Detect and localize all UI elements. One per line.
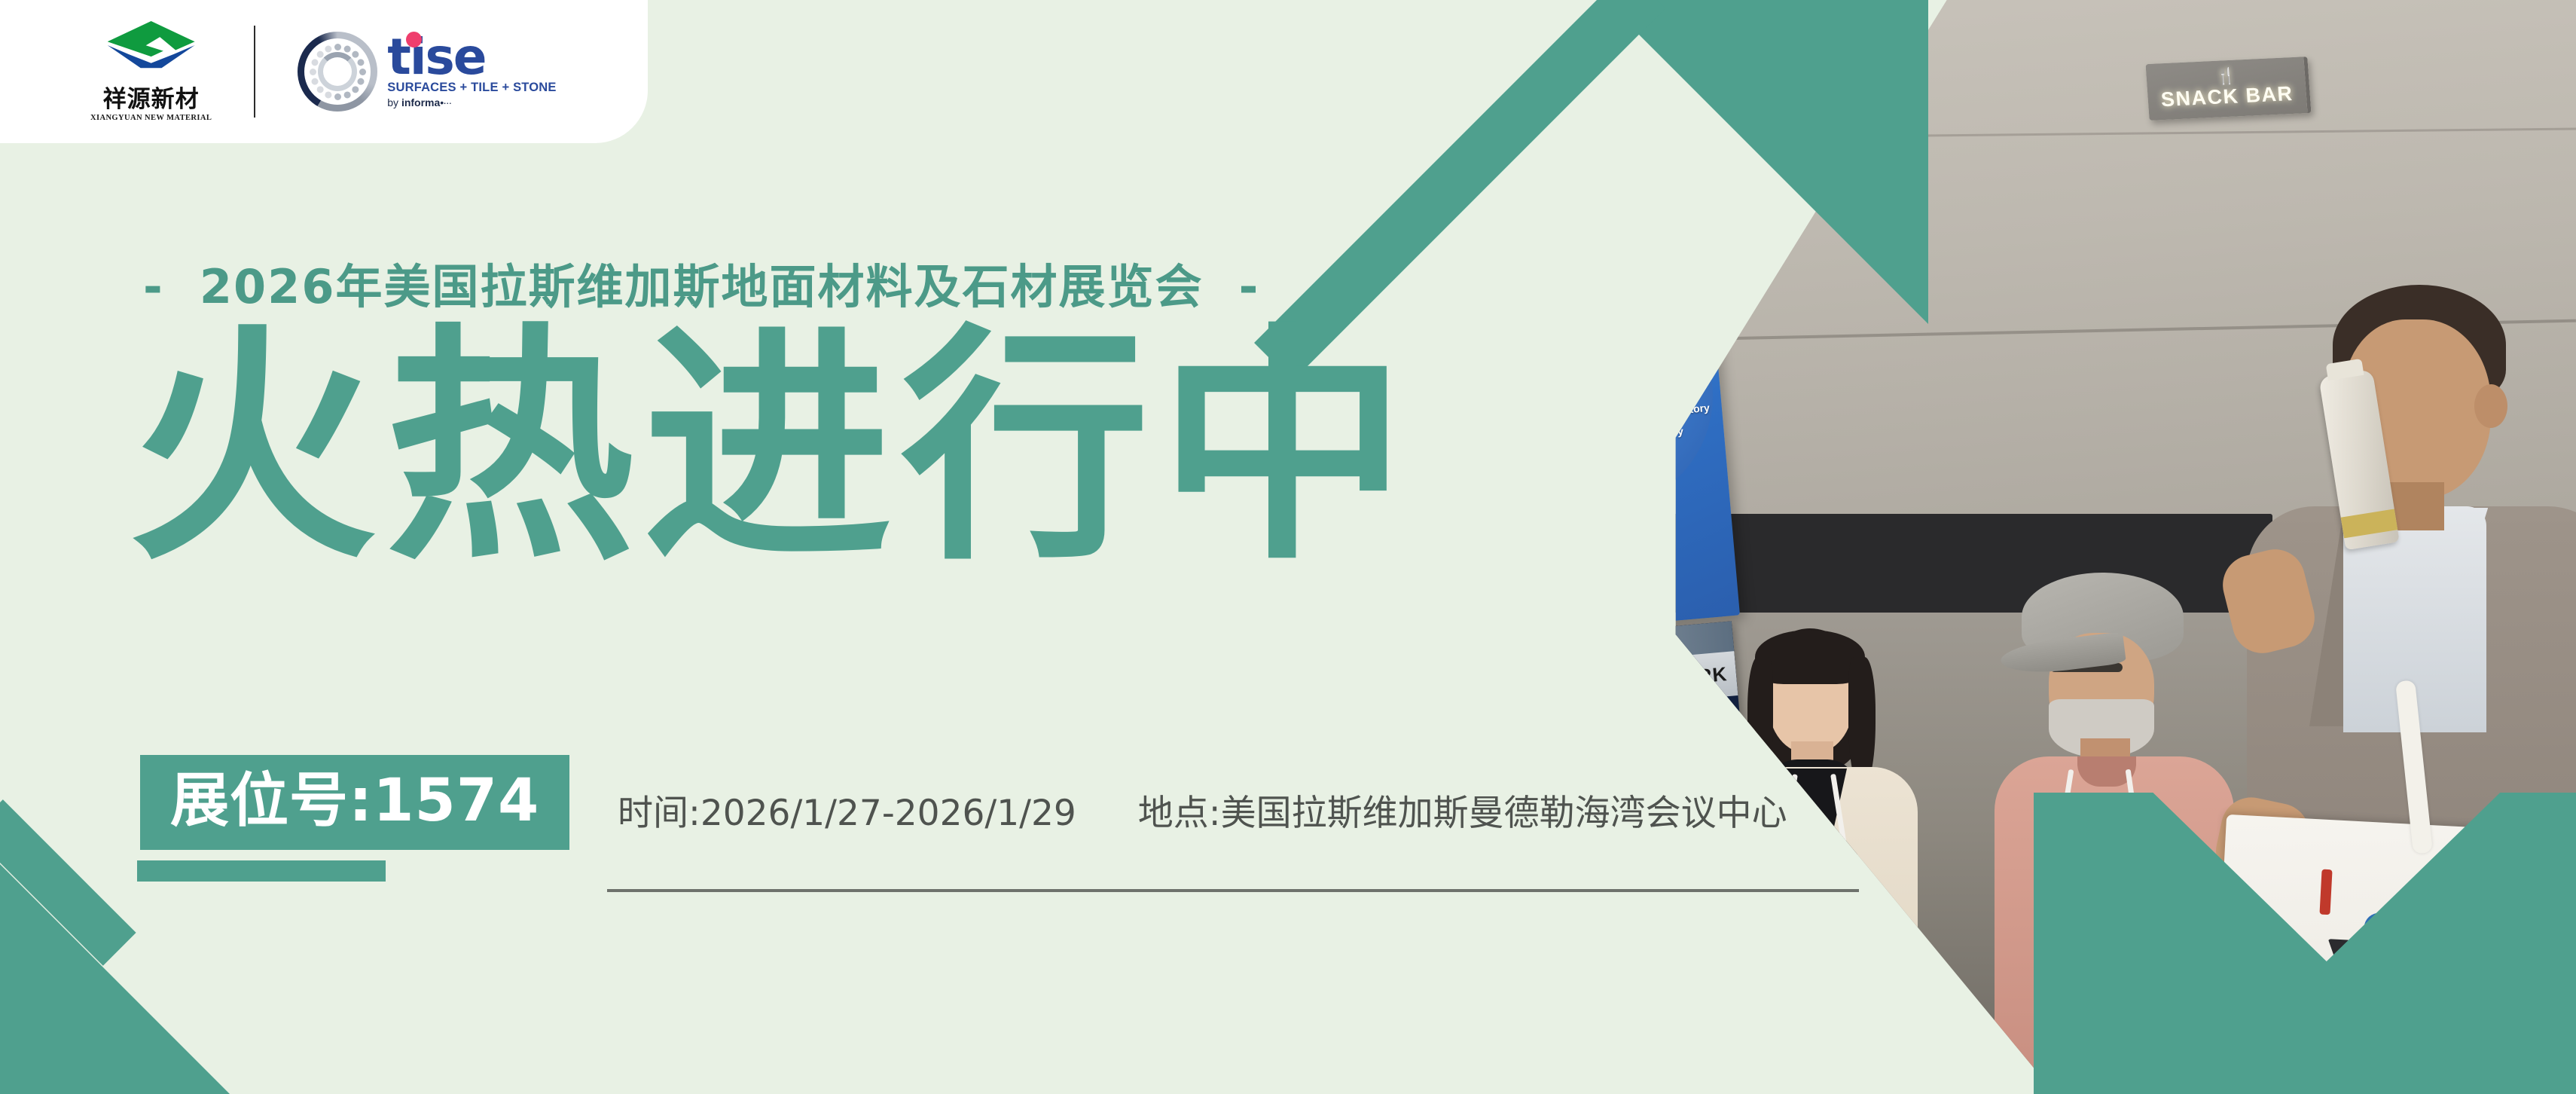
tise-wordmark: tise [387,35,556,79]
xiangyuan-en-name: XIANGYUAN NEW MATERIAL [90,114,212,122]
snack-bar-label: SNACK BAR [2160,82,2294,112]
snack-bar-sign: 🍴 SNACK BAR [2146,57,2312,121]
event-venue: 地点:美国拉斯维加斯曼德勒海湾会议中心 [1138,784,1787,836]
exhibition-promo-banner: 🍴 SNACK BAR 🏭 Distribution of six factor… [0,0,2576,1094]
fork-knife-icon: 🍴 [2216,68,2236,84]
foam-roll-sample-dark [1899,1031,2012,1094]
logo-divider [254,26,255,118]
info-divider [607,889,1859,892]
banner-content: - 2026年美国拉斯维加斯地面材料及石材展览会 - 火热进行中 展位号:157… [0,0,1883,1094]
xiangyuan-logo: 祥源新材 XIANGYUAN NEW MATERIAL [90,21,212,122]
logo-panel: 祥源新材 XIANGYUAN NEW MATERIAL tise SURFACE… [0,0,648,143]
tise-dot-icon [406,32,422,47]
page-title: 火热进行中 [128,324,1416,573]
event-date: 时间:2026/1/27-2026/1/29 [618,784,1076,836]
xiangyuan-cn-name: 祥源新材 [103,88,200,112]
xiangyuan-wave-logo [108,21,195,86]
event-info-row: 时间:2026/1/27-2026/1/29 地点:美国拉斯维加斯曼德勒海湾会议… [618,784,1787,836]
tise-circle-logo [298,32,377,112]
booth-number-badge: 展位号:1574 [140,755,569,850]
tise-byline: by informa•··· [387,96,556,108]
tise-logo: tise SURFACES + TILE + STONE by informa•… [298,32,556,112]
